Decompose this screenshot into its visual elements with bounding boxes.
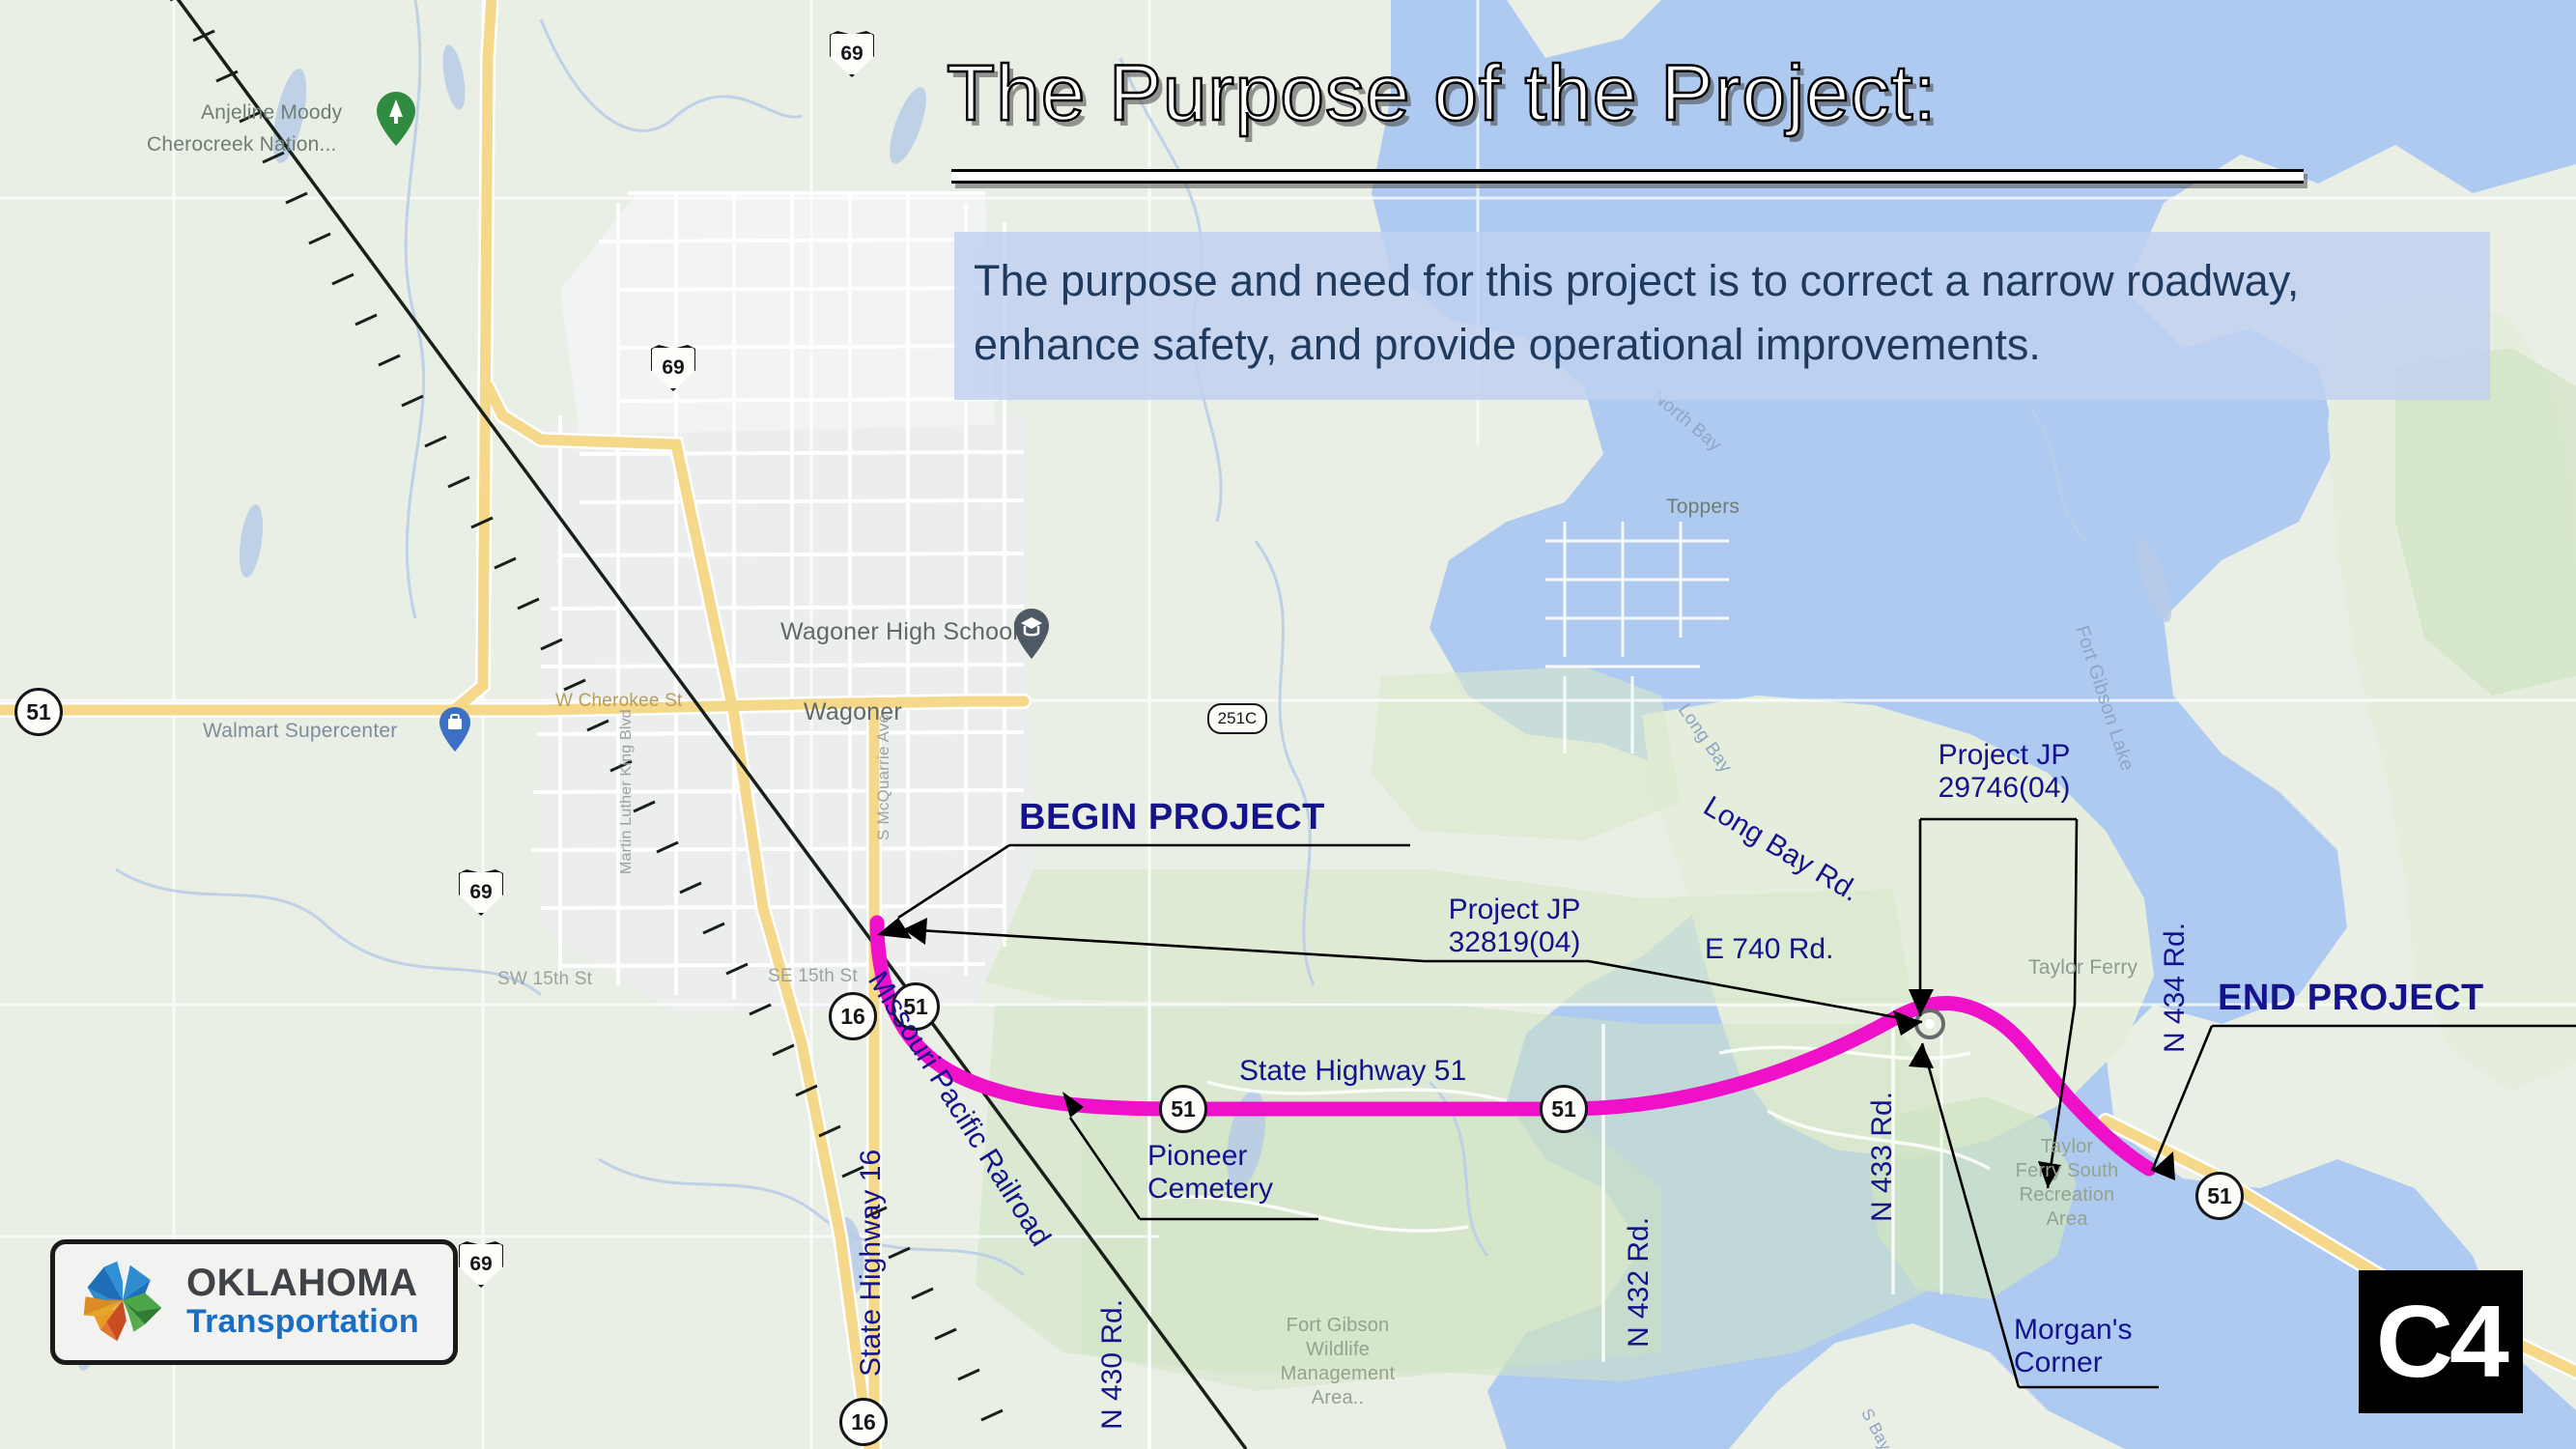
pioneer-cemetery-line2: Cemetery	[1147, 1173, 1273, 1205]
label-state-highway-16: State Highway 16	[855, 1150, 888, 1377]
label-n-430-rd: N 430 Rd.	[1096, 1299, 1129, 1430]
title-underline	[951, 169, 2304, 184]
purpose-text: The purpose and need for this project is…	[974, 249, 2477, 377]
map-label-wagoner-high-school: Wagoner High School	[780, 618, 1018, 646]
shield-sh51-left: 51	[14, 688, 63, 736]
label-project-jp-east: Project JP 29746(04)	[1917, 739, 2091, 804]
map-label-cherocreek-nation: Cherocreek Nation...	[147, 133, 337, 156]
map-label-anjeline-moody: Anjeline Moody	[201, 101, 342, 125]
label-morgans-corner: Morgan's Corner	[2014, 1314, 2132, 1378]
label-end-project: END PROJECT	[2218, 978, 2484, 1019]
project-jp-east-line2: 29746(04)	[1939, 772, 2071, 804]
odot-line1: OKLAHOMA	[186, 1264, 419, 1302]
label-e-740-rd: E 740 Rd.	[1705, 933, 1833, 966]
c4-logo: C4	[2359, 1270, 2523, 1413]
shield-cr251c: 251C	[1207, 703, 1267, 734]
project-jp-west-line1: Project JP	[1449, 894, 1581, 925]
project-jp-east-line1: Project JP	[1939, 739, 2071, 771]
odot-line2: Transportation	[186, 1304, 419, 1340]
map-label-s-mcquarrie-ave: S McQuarrie Ave	[874, 714, 893, 840]
odot-logo: OKLAHOMA Transportation	[50, 1239, 458, 1365]
odot-pinwheel-icon	[76, 1256, 169, 1349]
map-label-toppers: Toppers	[1666, 496, 1740, 519]
purpose-text-box: The purpose and need for this project is…	[954, 232, 2490, 400]
odot-wordmark: OKLAHOMA Transportation	[186, 1264, 419, 1340]
pioneer-cemetery-line1: Pioneer	[1147, 1140, 1247, 1172]
map-label-taylor-ferry-south-rec: TaylorFerry SouthRecreationArea	[1990, 1135, 2144, 1232]
shield-sh51-east: 51	[2195, 1172, 2244, 1220]
map-label-sw-15th-st: SW 15th St	[497, 969, 592, 990]
shield-us69-upper: 69	[649, 345, 697, 391]
shield-sh51-route-b: 51	[1540, 1085, 1588, 1133]
label-n-433-rd: N 433 Rd.	[1866, 1092, 1899, 1222]
morgans-corner-line2: Corner	[2014, 1347, 2103, 1378]
label-project-jp-west: Project JP 32819(04)	[1428, 894, 1601, 958]
shield-us69-bottom: 69	[457, 1241, 505, 1288]
slide-root: Anjeline Moody Cherocreek Nation... Wago…	[0, 0, 2576, 1449]
map-label-mlk-blvd: Martin Luther King Blvd	[618, 709, 636, 874]
school-marker-icon	[1014, 609, 1049, 659]
shield-sh51-route-a: 51	[1159, 1085, 1207, 1133]
project-jp-west-line2: 32819(04)	[1449, 926, 1581, 958]
shield-us69-mid: 69	[457, 869, 505, 916]
map-label-se-15th-st: SE 15th St	[768, 966, 858, 987]
map-label-walmart: Walmart Supercenter	[203, 720, 397, 743]
store-marker-icon	[439, 707, 470, 752]
shield-us69-top: 69	[828, 31, 876, 77]
c4-wordmark: C4	[2376, 1291, 2505, 1393]
label-n-434-rd: N 434 Rd.	[2159, 923, 2192, 1053]
label-state-highway-51: State Highway 51	[1239, 1055, 1466, 1088]
page-title: The Purpose of the Project:	[947, 48, 1937, 139]
shield-sh16-mid: 16	[829, 992, 877, 1040]
label-pioneer-cemetery: Pioneer Cemetery	[1147, 1140, 1273, 1205]
park-marker-icon	[377, 92, 415, 146]
green-north-a	[1372, 667, 1681, 840]
map-label-taylor-ferry: Taylor Ferry	[2028, 956, 2137, 980]
label-n-432-rd: N 432 Rd.	[1623, 1217, 1656, 1348]
map-label-fort-gibson-wma: Fort GibsonWildlifeManagementArea..	[1246, 1314, 1430, 1410]
label-begin-project: BEGIN PROJECT	[1019, 797, 1325, 838]
shield-sh16-bottom: 16	[839, 1398, 888, 1446]
morgans-corner-line1: Morgan's	[2014, 1314, 2132, 1346]
